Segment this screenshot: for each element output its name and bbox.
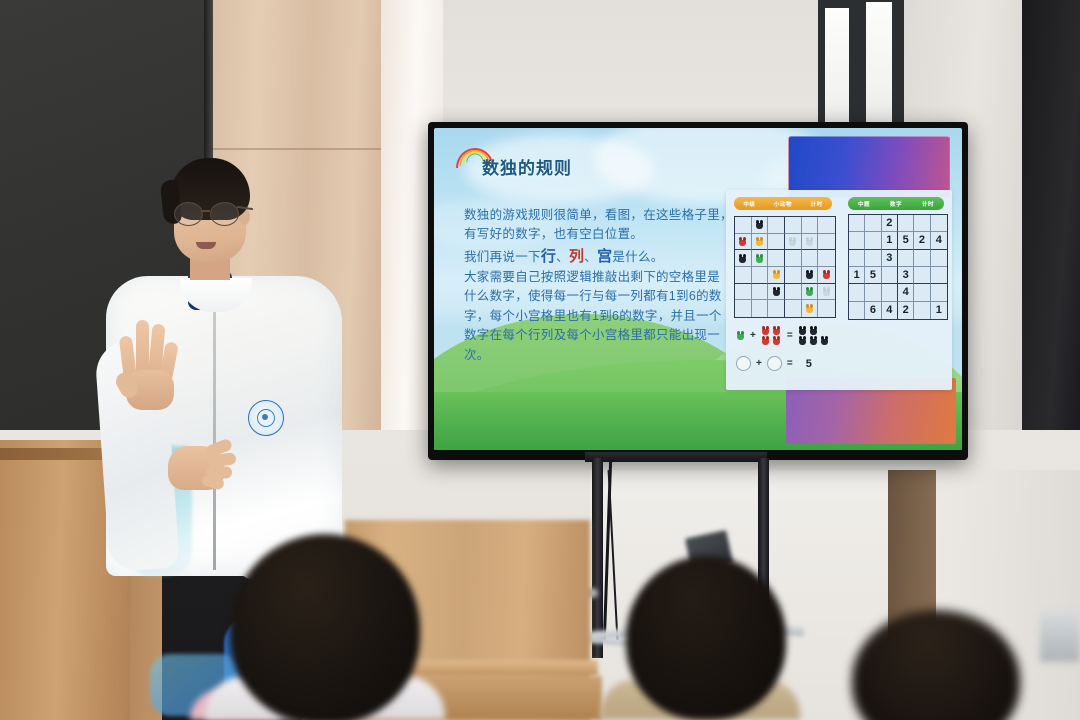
token-red [772,336,781,345]
icon-sudoku-cell[interactable] [785,267,802,284]
sudoku-cell[interactable]: 1 [849,267,865,284]
presenter-left-hand-gesture [120,320,176,396]
sudoku-cell[interactable] [849,284,865,301]
keyword-column: 列 [569,248,584,265]
number-sudoku-grid[interactable]: 21524315346421 [848,214,948,320]
classroom-scene: 数独的规则 数独的游戏规则很简单，看图，在这些格子里， 有写好的数字，也有空白位… [0,0,1080,720]
keyword-row: 行 [541,248,556,265]
sudoku-cell[interactable] [849,250,865,267]
token-faint [805,237,814,246]
right-header-label: 数字 [890,200,902,208]
sudoku-cell[interactable] [931,267,947,284]
sudoku-cell[interactable] [849,215,865,232]
sudoku-cell[interactable]: 4 [898,284,914,301]
tv-screen[interactable]: 数独的规则 数独的游戏规则很简单，看图，在这些格子里， 有写好的数字，也有空白位… [434,128,962,450]
sudoku-cell[interactable] [865,250,881,267]
token-yellow [772,270,781,279]
plus-sign: + [756,358,762,369]
slide-body-text: 数独的游戏规则很简单，看图，在这些格子里， 有写好的数字，也有空白位置。 我们再… [464,206,769,365]
cell-number: 3 [886,252,892,264]
left-header-label: 小动物 [774,200,792,208]
cell-number: 1 [936,304,942,316]
token-group-red [761,326,782,345]
cell-number: 1 [854,269,860,281]
empty-circle [767,356,782,371]
token-black [798,336,807,345]
left-header-label: 计时 [811,200,823,208]
sudoku-cell[interactable] [865,284,881,301]
tv-stand-crossbar [585,452,767,462]
icon-sudoku-cell[interactable] [768,234,785,251]
equation-row-1: + = [736,326,830,345]
token-black [798,326,807,335]
sudoku-cell[interactable] [898,215,914,232]
slide-line: 有写好的数字，也有空白位置。 [464,225,769,244]
cell-number: 5 [870,269,876,281]
sudoku-panel: 中级 小动物 计时 中题 数字 计时 21524315346421 + [726,190,952,390]
icon-sudoku-cell[interactable] [768,284,785,301]
cell-number: 4 [886,304,892,316]
icon-sudoku-cell[interactable] [752,234,769,251]
cell-number: 2 [886,217,892,229]
sudoku-cell[interactable]: 4 [931,232,947,249]
cell-number: 4 [936,234,942,246]
icon-sudoku-cell[interactable] [735,234,752,251]
icon-sudoku-cell[interactable] [752,300,769,317]
sudoku-cell[interactable] [914,284,930,301]
token-black [738,254,747,263]
token-green [755,254,764,263]
sudoku-cell[interactable]: 3 [898,267,914,284]
sudoku-cell[interactable] [882,284,898,301]
right-header-label: 计时 [922,200,934,208]
tv-stand-pole-left [592,458,603,658]
presentation-slide: 数独的规则 数独的游戏规则很简单，看图，在这些格子里， 有写好的数字，也有空白位… [434,128,962,450]
token-red [738,237,747,246]
sudoku-cell[interactable]: 1 [882,232,898,249]
cell-number: 2 [903,304,909,316]
sudoku-cell[interactable] [914,267,930,284]
icon-sudoku-cell[interactable] [818,217,835,234]
presenter-right-hand [162,436,234,498]
sudoku-cell[interactable]: 4 [882,302,898,319]
top-right-video-tile [788,136,950,198]
icon-sudoku-cell[interactable] [735,284,752,301]
icon-sudoku-cell[interactable] [785,300,802,317]
icon-sudoku-cell[interactable] [735,267,752,284]
icon-sudoku-cell[interactable] [735,300,752,317]
sudoku-cell[interactable]: 2 [882,215,898,232]
icon-sudoku-cell[interactable] [735,217,752,234]
sudoku-cell[interactable] [865,232,881,249]
sudoku-cell[interactable] [931,215,947,232]
icon-sudoku-cell[interactable] [785,284,802,301]
kw-suffix: 是什么。 [612,250,663,264]
icon-sudoku-cell[interactable] [768,267,785,284]
sudoku-cell[interactable] [865,215,881,232]
sudoku-cell[interactable] [849,302,865,319]
glasses-temple [237,206,253,210]
slide-line: 什么数字，使得每一行与每一列都有1到6的数 [464,287,769,306]
kw-prefix: 我们再说一下 [464,250,541,264]
token-faint [788,237,797,246]
icon-sudoku-cell[interactable] [785,234,802,251]
right-grid-header[interactable]: 中题 数字 计时 [848,197,944,210]
left-grid-header[interactable]: 中级 小动物 计时 [734,197,832,210]
token-faint [822,287,831,296]
sudoku-cell[interactable] [914,302,930,319]
token-red [772,326,781,335]
icon-sudoku-cell[interactable] [752,250,769,267]
icon-sudoku-grid[interactable] [734,216,836,318]
token-red [761,336,770,345]
cell-number: 1 [886,234,892,246]
sudoku-cell[interactable] [931,284,947,301]
wall-mounted-tv[interactable]: 数独的规则 数独的游戏规则很简单，看图，在这些格子里， 有写好的数字，也有空白位… [428,122,968,460]
slide-line: 大家需要自己按照逻辑推敲出剩下的空格里是 [464,268,769,287]
sudoku-cell[interactable] [914,215,930,232]
laptop [1040,612,1080,662]
cell-number: 6 [870,304,876,316]
sudoku-cell[interactable]: 5 [898,232,914,249]
token-black [820,336,829,345]
keyword-box: 宫 [597,248,612,265]
token-black [805,270,814,279]
icon-sudoku-cell[interactable] [818,234,835,251]
glasses-bridge [201,210,210,212]
cell-number: 5 [903,234,909,246]
icon-sudoku-cell[interactable] [818,267,835,284]
sudoku-cell[interactable]: 6 [865,302,881,319]
sudoku-cell[interactable] [898,250,914,267]
icon-sudoku-cell[interactable] [818,300,835,317]
token-yellow [755,237,764,246]
kw-sep: 、 [584,250,597,264]
slide-line: 次。 [464,346,769,365]
eyeglasses-icon [170,202,254,224]
kw-sep: 、 [556,250,569,264]
equation-row-2: + = 5 [736,356,812,371]
lens-left [174,202,203,226]
icon-sudoku-cell[interactable] [735,250,752,267]
cell-number: 4 [903,286,909,298]
token-black [809,336,818,345]
slide-line: 数字在每个行列及每个小宫格里都只能出现一 [464,326,769,345]
empty-circle [736,356,751,371]
slide-line: 数独的游戏规则很简单，看图，在这些格子里， [464,206,769,225]
sudoku-cell[interactable] [914,250,930,267]
slide-title: 数独的规则 [482,154,572,179]
icon-sudoku-cell[interactable] [818,284,835,301]
sudoku-cell[interactable]: 2 [914,232,930,249]
slide-line-keywords: 我们再说一下行、列、宫是什么。 [464,245,769,268]
equals-sign: = [787,330,793,341]
cell-number: 3 [903,269,909,281]
sudoku-cell[interactable] [849,232,865,249]
jacket-zipper [213,300,216,570]
icon-sudoku-cell[interactable] [818,250,835,267]
token-black [755,220,764,229]
icon-sudoku-cell[interactable] [802,284,819,301]
sudoku-cell[interactable] [931,250,947,267]
sudoku-cell[interactable] [882,267,898,284]
token-green [736,331,745,340]
cell-number: 2 [919,234,925,246]
token-black [772,287,781,296]
slide-line: 字，每个小宫格里也有1到6的数字，并且一个 [464,307,769,326]
right-header-label: 中题 [858,200,870,208]
sudoku-cell[interactable]: 1 [931,302,947,319]
icon-sudoku-cell[interactable] [752,217,769,234]
window-glass-right [866,2,892,138]
token-yellow [805,304,814,313]
left-header-label: 中级 [743,200,755,208]
icon-sudoku-cell[interactable] [802,300,819,317]
icon-sudoku-cell[interactable] [768,217,785,234]
icon-sudoku-cell[interactable] [768,300,785,317]
icon-sudoku-cell[interactable] [802,234,819,251]
equals-sign: = [787,358,793,369]
token-group-black [798,326,830,345]
school-crest-emblem [248,400,284,436]
equation-result: 5 [806,358,812,370]
plus-sign: + [750,330,756,341]
icon-sudoku-cell[interactable] [802,250,819,267]
sudoku-cell[interactable]: 5 [865,267,881,284]
token-red [761,326,770,335]
icon-sudoku-cell[interactable] [802,267,819,284]
icon-sudoku-cell[interactable] [785,217,802,234]
student-front-left [230,534,420,720]
token-green [805,287,814,296]
sudoku-cell[interactable]: 3 [882,250,898,267]
icon-sudoku-cell[interactable] [752,267,769,284]
icon-sudoku-cell[interactable] [802,217,819,234]
sudoku-cell[interactable]: 2 [898,302,914,319]
icon-sudoku-cell[interactable] [785,250,802,267]
icon-sudoku-cell[interactable] [768,250,785,267]
lens-right [210,202,239,226]
icon-sudoku-cell[interactable] [752,284,769,301]
token-black [809,326,818,335]
student-front-center [626,556,786,720]
token-red [822,270,831,279]
